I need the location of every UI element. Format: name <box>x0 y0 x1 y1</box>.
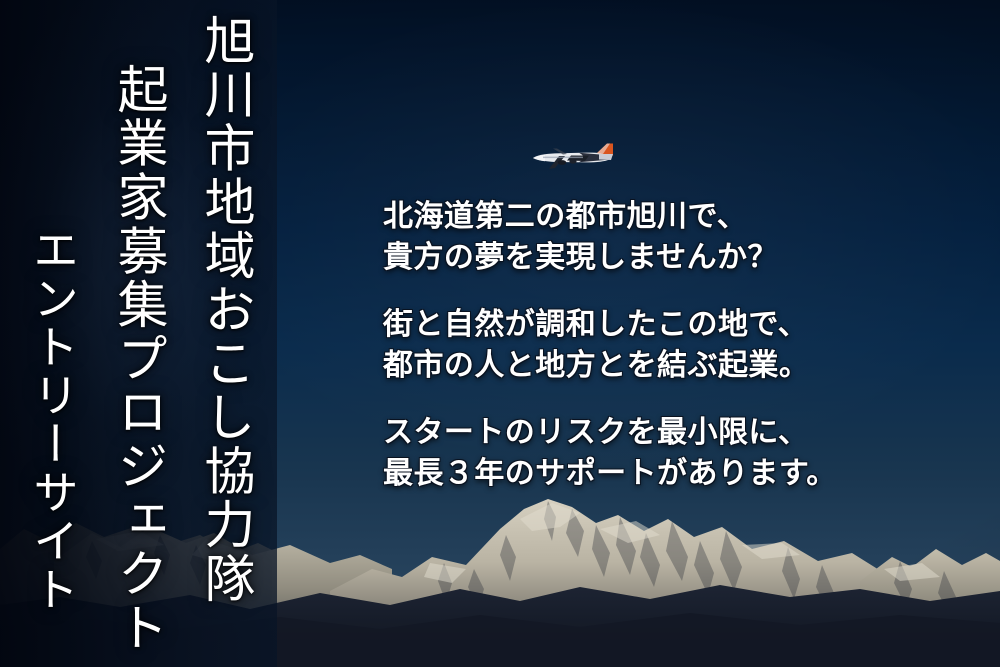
paragraph-1-line-2: 貴方の夢を実現しませんか？ <box>383 237 943 278</box>
title-column-3: エントリーサイト <box>20 226 86 614</box>
paragraph-1-line-1: 北海道第二の都市旭川で、 <box>383 196 943 237</box>
paragraph-2: 街と自然が調和したこの地で、 都市の人と地方とを結ぶ起業。 <box>383 304 943 386</box>
paragraph-2-line-1: 街と自然が調和したこの地で、 <box>383 304 943 345</box>
body-copy: 北海道第二の都市旭川で、 貴方の夢を実現しませんか？ 街と自然が調和したこの地で… <box>383 196 943 494</box>
title-column-1: 旭川市地域おこし協力隊 <box>187 14 261 606</box>
paragraph-1: 北海道第二の都市旭川で、 貴方の夢を実現しませんか？ <box>383 196 943 278</box>
paragraph-2-line-2: 都市の人と地方とを結ぶ起業。 <box>383 345 943 386</box>
paragraph-3-line-1: スタートのリスクを最小限に、 <box>383 412 943 453</box>
title-column-2: 起業家募集プロジェクト <box>100 63 174 655</box>
paragraph-3-line-2: 最長３年のサポートがあります。 <box>383 453 943 494</box>
paragraph-3: スタートのリスクを最小限に、 最長３年のサポートがあります。 <box>383 412 943 494</box>
vertical-title-block: 旭川市地域おこし協力隊 起業家募集プロジェクト エントリーサイト <box>0 0 277 667</box>
airplane-icon <box>527 142 615 174</box>
poster-canvas: 旭川市地域おこし協力隊 起業家募集プロジェクト エントリーサイト 北海道第二の都… <box>0 0 1000 667</box>
